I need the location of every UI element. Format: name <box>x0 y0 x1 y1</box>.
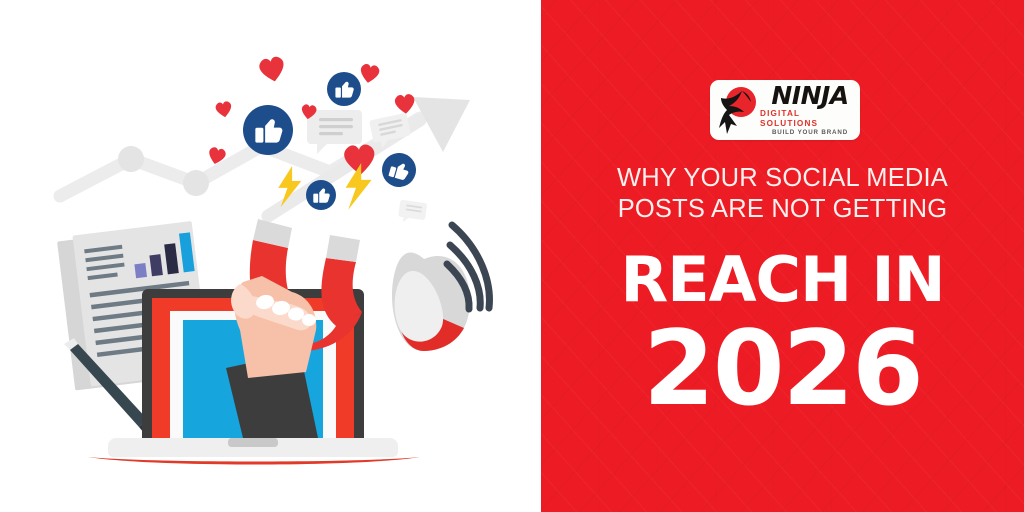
headline-panel: NINJA DIGITAL SOLUTIONS BUILD YOUR BRAND… <box>541 0 1024 512</box>
logo-wordmark: NINJA <box>771 83 848 108</box>
promo-banner: NINJA DIGITAL SOLUTIONS BUILD YOUR BRAND… <box>0 0 1024 512</box>
subhead: WHY YOUR SOCIAL MEDIA POSTS ARE NOT GETT… <box>541 163 1024 225</box>
logo-tagline: BUILD YOUR BRAND <box>772 129 848 137</box>
thumbs-up-icon <box>378 149 420 191</box>
headline-year: 2026 <box>541 313 1024 425</box>
thumbs-up-icon <box>327 72 361 106</box>
ninja-silhouette-icon <box>713 84 763 136</box>
social-media-magnet-illustration <box>0 0 541 512</box>
megaphone-icon <box>392 225 489 351</box>
thumbs-up-icon <box>306 180 336 210</box>
brand-logo[interactable]: NINJA DIGITAL SOLUTIONS BUILD YOUR BRAND <box>710 80 860 140</box>
subhead-line-2: POSTS ARE NOT GETTING <box>541 194 1024 225</box>
headline-emphasis: REACH IN <box>541 248 1024 312</box>
thumbs-up-icon <box>243 105 293 155</box>
logo-subtitle: DIGITAL SOLUTIONS <box>760 109 860 129</box>
speech-bubble-icon <box>397 200 427 226</box>
subhead-line-1: WHY YOUR SOCIAL MEDIA <box>541 163 1024 194</box>
illustration-panel <box>0 0 541 512</box>
